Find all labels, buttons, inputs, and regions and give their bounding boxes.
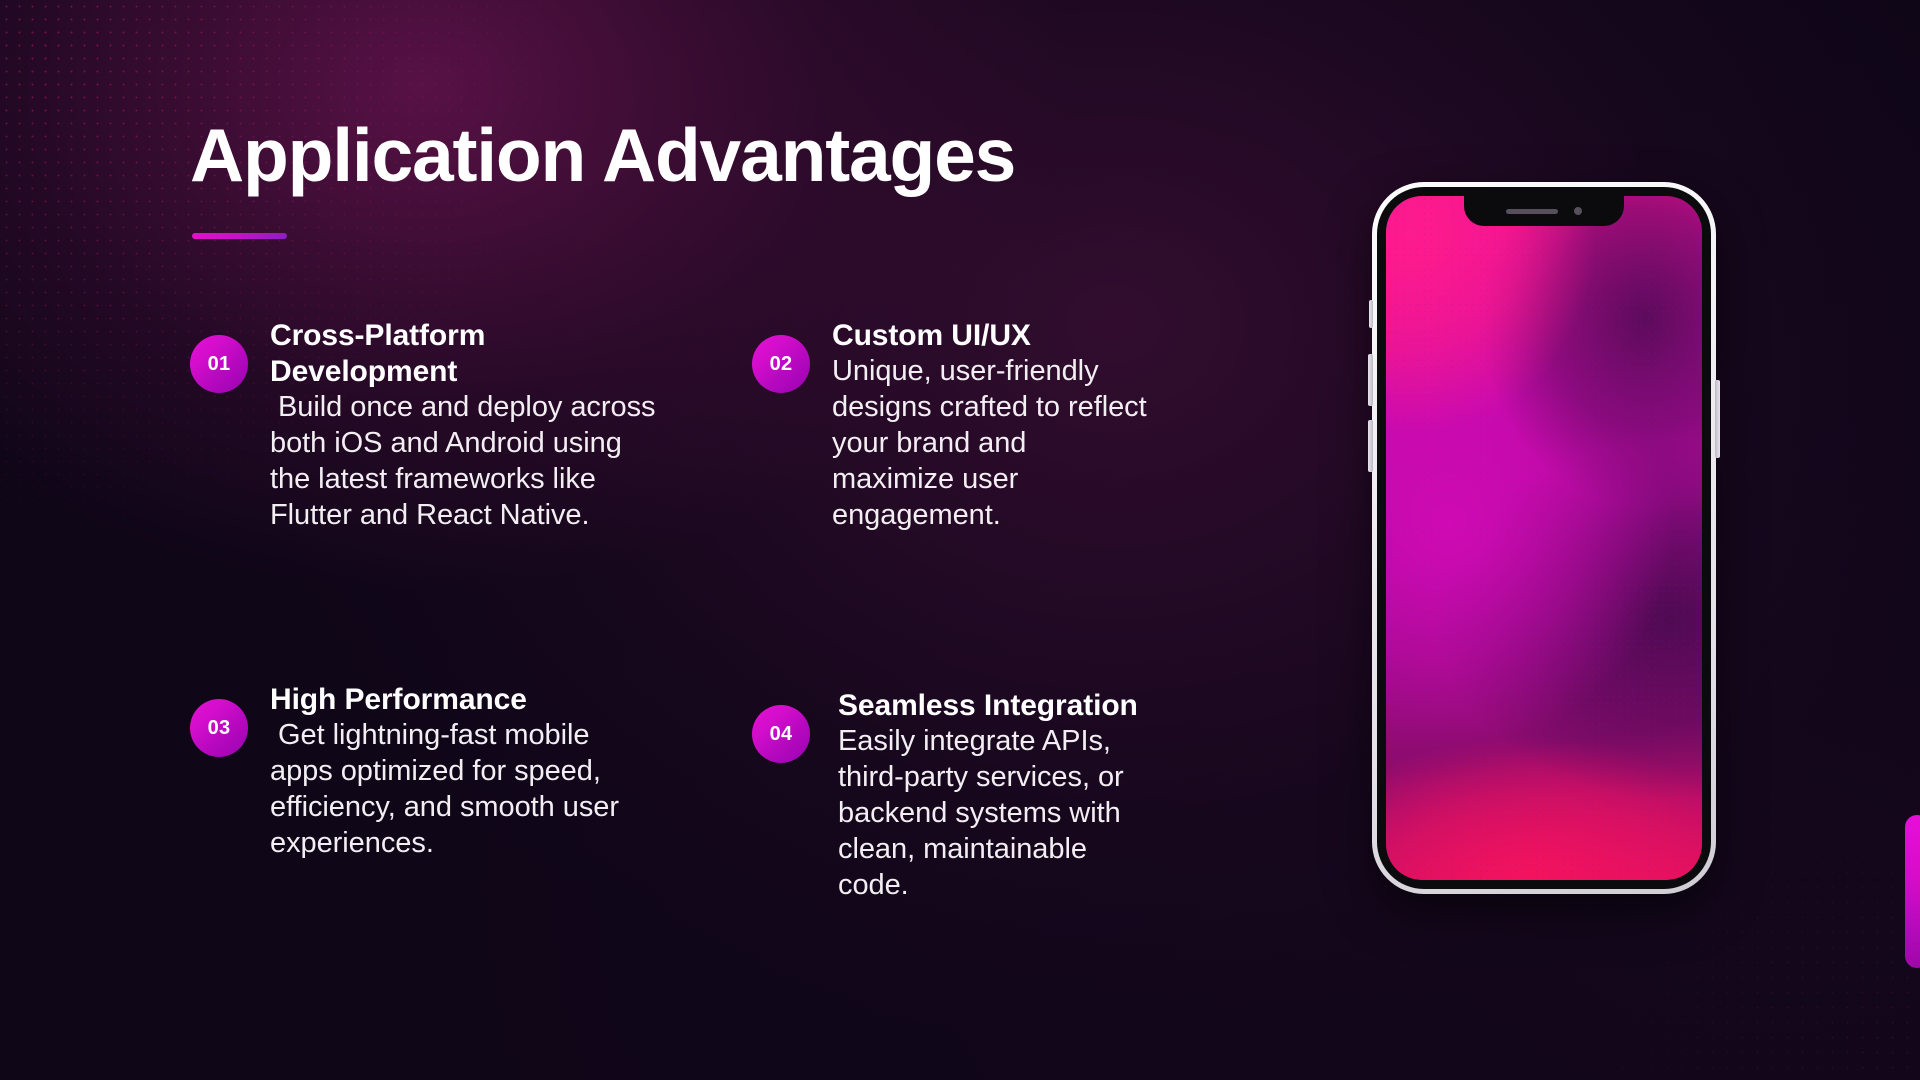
feature-item-3: 03 High Performance Get lightning-fast m… (190, 682, 660, 862)
feature-number-badge: 01 (190, 335, 248, 393)
slide-canvas: Application Advantages 01 Cross-Platform… (0, 0, 1920, 1080)
volume-down-button[interactable] (1368, 420, 1373, 472)
feature-title: Cross-Platform Development (270, 318, 660, 390)
feature-title: Seamless Integration (838, 688, 1152, 724)
page-title: Application Advantages (190, 118, 1015, 193)
feature-content: High Performance Get lightning-fast mobi… (270, 682, 660, 862)
mute-switch-button[interactable] (1369, 300, 1373, 328)
phone-screen (1386, 196, 1702, 880)
feature-title: Custom UI/UX (832, 318, 1152, 354)
feature-title: High Performance (270, 682, 660, 718)
feature-description: Get lightning-fast mobile apps optimized… (270, 718, 660, 862)
phone-mockup (1372, 182, 1716, 894)
feature-number-badge: 03 (190, 699, 248, 757)
feature-description: Build once and deploy across both iOS an… (270, 390, 660, 534)
feature-item-1: 01 Cross-Platform Development Build once… (190, 318, 660, 534)
feature-number-badge: 02 (752, 335, 810, 393)
feature-content: Cross-Platform Development Build once an… (270, 318, 660, 534)
feature-content: Seamless Integration Easily integrate AP… (838, 688, 1152, 904)
feature-description: Easily integrate APIs, third-party servi… (838, 724, 1152, 904)
speaker-grille-icon (1506, 209, 1558, 214)
feature-number-badge: 04 (752, 705, 810, 763)
title-accent-bar (192, 233, 287, 239)
volume-up-button[interactable] (1368, 354, 1373, 406)
feature-content: Custom UI/UX Unique, user-friendly desig… (832, 318, 1152, 534)
feature-description: Unique, user-friendly designs crafted to… (832, 354, 1152, 534)
power-button[interactable] (1715, 380, 1720, 458)
feature-item-2: 02 Custom UI/UX Unique, user-friendly de… (752, 318, 1152, 534)
screen-grain-overlay (1386, 196, 1702, 880)
scroll-indicator[interactable] (1905, 815, 1920, 968)
phone-notch (1464, 196, 1624, 226)
feature-item-4: 04 Seamless Integration Easily integrate… (752, 688, 1152, 904)
front-camera-icon (1574, 207, 1582, 215)
